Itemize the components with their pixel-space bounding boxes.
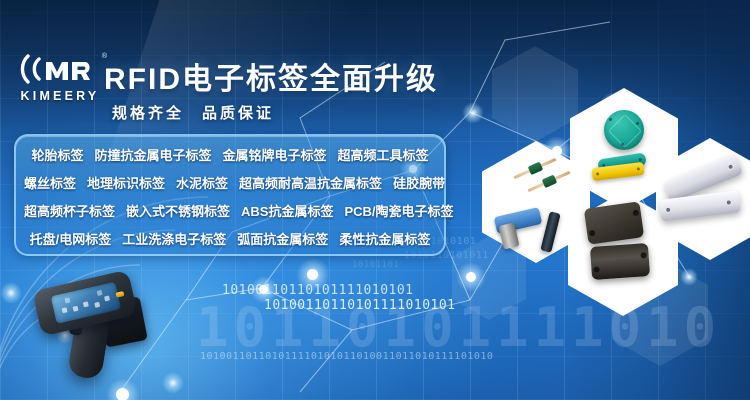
node-dot <box>116 388 129 400</box>
handheld-rfid-reader[interactable] <box>28 272 153 382</box>
headline: RFID电子标签全面升级 <box>104 54 438 98</box>
binary-text-mid-2: 10100110110101111010101 <box>264 298 456 313</box>
product-item[interactable]: 超高频耐高温抗金属标签 <box>239 176 382 191</box>
abs-anti-metal-tag-top <box>584 201 644 244</box>
product-item[interactable]: 超高频杯子标签 <box>24 204 115 219</box>
node-glow <box>162 372 184 394</box>
product-row: 螺丝标签地理标识标签水泥标签超高频耐高温抗金属标签硅胶腕带 <box>24 170 436 198</box>
node-glow <box>462 102 484 124</box>
abs-anti-metal-tag-bottom <box>590 243 650 280</box>
product-item[interactable]: PCB/陶瓷电子标签 <box>344 204 453 219</box>
product-item[interactable]: 螺丝标签 <box>24 176 76 191</box>
product-row: 超高频杯子标签嵌入式不锈钢标签ABS抗金属标签PCB/陶瓷电子标签 <box>24 198 436 226</box>
product-item[interactable]: ABS抗金属标签 <box>241 204 333 219</box>
binary-text-faint-3: 10101101 <box>352 260 399 270</box>
subtitle-part-2: 品质保证 <box>202 105 274 122</box>
product-item[interactable]: 轮胎标签 <box>31 148 83 163</box>
reader-status-led <box>116 291 125 298</box>
product-item[interactable]: 工业洗涤电子标签 <box>122 232 226 247</box>
brand-name: KIMEERY <box>14 89 106 103</box>
subtitle: 规格齐全品质保证 <box>112 102 274 123</box>
reader-screen <box>51 282 122 324</box>
product-item[interactable]: 水泥标签 <box>176 176 228 191</box>
product-item[interactable]: 硅胶腕带 <box>393 176 445 191</box>
product-item[interactable]: 金属铭牌电子标签 <box>223 148 327 163</box>
rfid-product-banner: 10110101111010 10100110110101111010101 1… <box>0 0 750 400</box>
binary-text-small: 1010011011010111101010110100110110101111… <box>200 351 493 362</box>
product-item[interactable]: 超高频工具标签 <box>338 148 429 163</box>
product-item[interactable]: 地理标识标签 <box>87 176 165 191</box>
product-item[interactable]: 托盘/电网标签 <box>30 232 112 247</box>
node-glow <box>0 282 22 304</box>
product-item[interactable]: 防撞抗金属电子标签 <box>94 148 211 163</box>
product-item[interactable]: 嵌入式不锈钢标签 <box>126 204 230 219</box>
product-row: 托盘/电网标签工业洗涤电子标签弧面抗金属标签柔性抗金属标签 <box>24 226 436 254</box>
subtitle-part-1: 规格齐全 <box>112 105 184 122</box>
round-anti-metal-tag <box>604 110 644 150</box>
product-item[interactable]: 柔性抗金属标签 <box>339 232 430 247</box>
product-row: 轮胎标签防撞抗金属电子标签金属铭牌电子标签超高频工具标签 <box>24 142 436 170</box>
brand-logo[interactable]: ® KIMEERY <box>14 52 106 108</box>
logo-mark-icon: ® <box>14 52 106 86</box>
binary-text-mid-1: 10100110110101111010101 <box>222 283 414 298</box>
product-item[interactable]: 弧面抗金属标签 <box>237 232 328 247</box>
node-dot <box>307 269 318 280</box>
product-list-panel: 轮胎标签防撞抗金属电子标签金属铭牌电子标签超高频工具标签 螺丝标签地理标识标签水… <box>14 134 446 256</box>
